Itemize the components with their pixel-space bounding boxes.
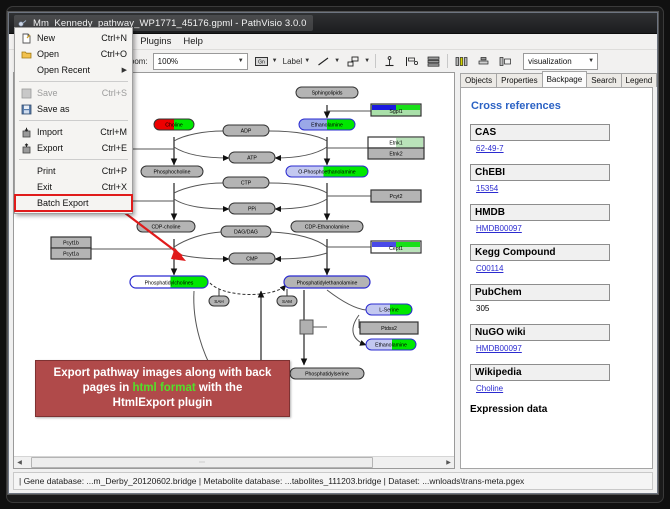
node-adp[interactable]: ADP: [223, 125, 269, 136]
toolbar-separator-1: [375, 54, 376, 68]
svg-text:O-Phosphoethanolamine: O-Phosphoethanolamine: [298, 170, 356, 176]
screenshot-frame: Mm_Kennedy_pathway_WP1771_45176.gpml - P…: [0, 0, 670, 509]
file-menu-exit-accel: Ctrl+X: [102, 182, 132, 192]
file-menu-export-label: Export: [37, 143, 102, 153]
import-icon: [15, 127, 37, 138]
save-icon: [15, 88, 37, 99]
node-dag[interactable]: DAG/DAG: [221, 226, 271, 237]
tab-properties[interactable]: Properties: [496, 73, 542, 87]
tab-legend[interactable]: Legend: [621, 73, 658, 87]
svg-text:Ethanolamine: Ethanolamine: [311, 123, 343, 129]
gene-product-tool-icon[interactable]: Gn: [253, 53, 270, 70]
xref-link-wikipedia[interactable]: Choline: [476, 384, 503, 393]
xref-link-nugo[interactable]: HMDB00097: [476, 344, 522, 353]
folder-open-icon: [15, 49, 37, 60]
file-menu-new-accel: Ctrl+N: [101, 33, 132, 43]
distribute-tool-icon[interactable]: [453, 53, 470, 70]
file-menu-save-as-label: Save as: [37, 104, 127, 114]
file-menu-exit[interactable]: Exit Ctrl+X: [15, 179, 132, 195]
xref-db-cas: CAS: [470, 124, 610, 141]
svg-text:Ptdss2: Ptdss2: [381, 326, 397, 332]
node-sam[interactable]: SAM: [277, 296, 297, 306]
svg-text:SAH: SAH: [214, 299, 223, 304]
file-menu-batch-export[interactable]: Batch Export: [15, 195, 132, 211]
node-o-phosphoethanolamine[interactable]: O-Phosphoethanolamine: [286, 166, 368, 177]
node-phosphatidylcholines[interactable]: Phosphatidylcholines: [130, 276, 208, 288]
tab-search[interactable]: Search: [586, 73, 621, 87]
file-menu-new-label: New: [37, 33, 101, 43]
visualization-combo[interactable]: visualization ▼: [523, 53, 598, 70]
backpage-content: Cross references CAS 62-49-7 ChEBI 15354…: [460, 87, 653, 469]
gene-pcyt1b[interactable]: Pcyt1b: [51, 237, 91, 248]
common-width-tool-icon[interactable]: [475, 53, 492, 70]
export-icon: [15, 143, 37, 154]
stack-tool-icon[interactable]: [425, 53, 442, 70]
svg-text:Sphingolipids: Sphingolipids: [312, 91, 343, 97]
file-menu-export-accel: Ctrl+E: [102, 143, 132, 153]
toolbar-separator-2: [447, 54, 448, 68]
save-as-icon: [15, 104, 37, 115]
annotation-text: Export pathway images along with back pa…: [54, 366, 272, 411]
file-menu-exit-label: Exit: [37, 182, 102, 192]
line-tool-chevron-icon[interactable]: ▼: [334, 58, 340, 64]
node-cdp-choline[interactable]: CDP-choline: [137, 221, 195, 232]
menu-help[interactable]: Help: [177, 35, 209, 49]
annotation-line3: HtmlExport plugin: [113, 397, 213, 409]
side-panel: Objects Properties Backpage Search Legen…: [457, 72, 653, 469]
file-menu-open-label: Open: [37, 49, 101, 59]
svg-text:ADP: ADP: [241, 129, 252, 135]
gene-sgpl1[interactable]: Sgpl1: [371, 104, 421, 116]
gene-ptdss2[interactable]: Ptdss2: [360, 322, 418, 334]
svg-text:Sgpl1: Sgpl1: [389, 109, 402, 115]
svg-text:L-Serine: L-Serine: [379, 308, 399, 314]
svg-text:Ethanolamine: Ethanolamine: [375, 343, 407, 349]
xref-value-hmdb[interactable]: HMDB00097: [476, 224, 643, 233]
svg-text:CTP: CTP: [241, 181, 252, 187]
node-ctp[interactable]: CTP: [223, 177, 269, 188]
scroll-thumb[interactable]: ⋯: [31, 457, 373, 468]
file-menu-print-label: Print: [37, 166, 102, 176]
file-menu-save-label: Save: [37, 88, 102, 98]
side-panel-tabs[interactable]: Objects Properties Backpage Search Legen…: [457, 72, 653, 87]
file-menu-open-recent[interactable]: Open Recent ▶: [15, 62, 132, 78]
file-menu-batch-export-label: Batch Export: [37, 198, 127, 208]
chevron-down-icon: ▼: [238, 58, 244, 64]
annotation-banner: Export pathway images along with back pa…: [35, 360, 290, 417]
xref-db-pubchem: PubChem: [470, 284, 610, 301]
svg-text:Pcyt2: Pcyt2: [390, 194, 403, 200]
file-menu-import-label: Import: [37, 127, 100, 137]
node-phosphocholine[interactable]: Phosphocholine: [141, 166, 203, 177]
file-menu-export[interactable]: Export Ctrl+E: [15, 140, 132, 156]
xref-db-wikipedia: Wikipedia: [470, 364, 610, 381]
xref-link-hmdb[interactable]: HMDB00097: [476, 224, 522, 233]
shape-tool-chevron-icon[interactable]: ▼: [364, 58, 370, 64]
svg-text:Etnk2: Etnk2: [389, 152, 402, 158]
file-menu-separator-1: [19, 81, 128, 82]
file-menu-dropdown[interactable]: New Ctrl+N Open Ctrl+O Open Recent ▶ Sav…: [14, 27, 133, 214]
annotation-line2-pre: pages in: [83, 382, 133, 394]
cross-references-title: Cross references: [471, 100, 643, 112]
gene-cept1[interactable]: Cept1: [371, 241, 421, 253]
visualization-value: visualization: [528, 57, 572, 66]
xref-link-kegg[interactable]: C00114: [476, 264, 503, 273]
svg-text:Pcyt1a: Pcyt1a: [63, 252, 79, 258]
file-menu-open-recent-label: Open Recent: [37, 65, 122, 75]
file-menu-new[interactable]: New Ctrl+N: [15, 30, 132, 46]
svg-text:Choline: Choline: [165, 123, 183, 129]
xref-db-nugo: NuGO wiki: [470, 324, 610, 341]
bring-front-tool-icon[interactable]: [497, 53, 514, 70]
node-phosphatidylserine[interactable]: Phosphatidylserine: [290, 368, 364, 379]
gene-tool-chevron-icon[interactable]: ▼: [272, 58, 278, 64]
node-atp[interactable]: ATP: [229, 152, 275, 163]
svg-text:ATP: ATP: [247, 156, 257, 162]
xref-value-chebi[interactable]: 15354: [476, 184, 643, 193]
file-menu-print[interactable]: Print Ctrl+P: [15, 163, 132, 179]
svg-text:Phosphatidylserine: Phosphatidylserine: [305, 372, 349, 378]
tab-backpage[interactable]: Backpage: [542, 71, 588, 87]
xref-value-pubchem: 305: [476, 304, 643, 313]
node-ethanolamine-lower[interactable]: Ethanolamine: [366, 339, 416, 350]
xref-value-kegg[interactable]: C00114: [476, 264, 643, 273]
pathvisio-window: Mm_Kennedy_pathway_WP1771_45176.gpml - P…: [8, 12, 658, 494]
file-menu-print-accel: Ctrl+P: [102, 166, 132, 176]
gene-pcyt1a[interactable]: Pcyt1a: [51, 248, 91, 259]
menu-plugins[interactable]: Plugins: [134, 35, 177, 49]
svg-text:Gn: Gn: [258, 59, 265, 65]
node-phosphatidylethanolamine[interactable]: Phosphatidylethanolamine: [284, 276, 370, 288]
label-tool-icon[interactable]: Label: [283, 57, 303, 66]
submenu-arrow-icon: ▶: [122, 66, 132, 74]
gene-etnk1[interactable]: Etnk1: [368, 137, 424, 148]
status-bar: | Gene database: ...m_Derby_20120602.bri…: [13, 472, 653, 490]
file-menu-save-accel: Ctrl+S: [102, 88, 132, 98]
file-menu-import-accel: Ctrl+M: [100, 127, 132, 137]
svg-text:CMP: CMP: [246, 257, 258, 263]
xref-value-cas[interactable]: 62-49-7: [476, 144, 643, 153]
svg-text:DAG/DAG: DAG/DAG: [234, 230, 258, 236]
xref-db-chebi: ChEBI: [470, 164, 610, 181]
label-tool-chevron-icon[interactable]: ▼: [304, 58, 310, 64]
align-left-tool-icon[interactable]: [403, 53, 420, 70]
file-menu-import[interactable]: Import Ctrl+M: [15, 124, 132, 140]
zoom-combo[interactable]: 100% ▼: [153, 53, 248, 70]
svg-text:Phosphocholine: Phosphocholine: [154, 170, 191, 176]
anchor-tool-icon[interactable]: [381, 53, 398, 70]
svg-text:Phosphatidylethanolamine: Phosphatidylethanolamine: [297, 280, 358, 286]
xref-value-wikipedia[interactable]: Choline: [476, 384, 643, 393]
xref-link-cas[interactable]: 62-49-7: [476, 144, 504, 153]
shape-tool-icon[interactable]: [345, 53, 362, 70]
annotation-highlight: html format: [132, 382, 195, 394]
zoom-value: 100%: [158, 57, 178, 66]
svg-text:CDP-choline: CDP-choline: [151, 225, 180, 231]
line-tool-icon[interactable]: [315, 53, 332, 70]
scroll-right-arrow-icon[interactable]: ▶: [443, 457, 454, 468]
expression-data-title: Expression data: [470, 404, 643, 415]
file-menu-save: Save Ctrl+S: [15, 85, 132, 101]
node-sphingolipids[interactable]: Sphingolipids: [296, 87, 358, 98]
gene-etnk2[interactable]: Etnk2: [368, 148, 424, 159]
status-text: | Gene database: ...m_Derby_20120602.bri…: [19, 476, 524, 486]
node-cdp-ethanolamine[interactable]: CDP-Ethanolamine: [291, 221, 363, 232]
canvas-horizontal-scrollbar[interactable]: ◀ ⋯ ▶: [14, 456, 454, 468]
file-menu-save-as[interactable]: Save as: [15, 101, 132, 117]
new-document-icon: [15, 33, 37, 44]
node-choline-top[interactable]: Choline: [154, 119, 194, 130]
file-menu-separator-3: [19, 159, 128, 160]
node-l-serine[interactable]: L-Serine: [366, 304, 412, 315]
annotation-line2-post: with the: [196, 382, 243, 394]
node-sah[interactable]: SAH: [209, 296, 229, 306]
file-menu-separator-2: [19, 120, 128, 121]
xref-value-nugo[interactable]: HMDB00097: [476, 344, 643, 353]
gene-pcyt2[interactable]: Pcyt2: [371, 190, 421, 202]
file-menu-open[interactable]: Open Ctrl+O: [15, 46, 132, 62]
svg-text:Pcyt1b: Pcyt1b: [63, 241, 79, 247]
svg-text:Cept1: Cept1: [389, 246, 403, 252]
node-ethanolamine[interactable]: Ethanolamine: [299, 119, 355, 130]
tab-objects[interactable]: Objects: [460, 73, 497, 87]
svg-text:Etnk1: Etnk1: [389, 141, 402, 147]
node-cmp[interactable]: CMP: [229, 253, 275, 264]
svg-text:Phosphatidylcholines: Phosphatidylcholines: [145, 280, 194, 286]
node-ppi[interactable]: PPi: [229, 203, 275, 214]
chevron-down-icon: ▼: [588, 58, 594, 64]
svg-text:PPi: PPi: [248, 207, 256, 213]
xref-db-kegg: Kegg Compound: [470, 244, 610, 261]
svg-text:SAM: SAM: [282, 299, 292, 304]
scroll-left-arrow-icon[interactable]: ◀: [14, 457, 25, 468]
file-menu-open-accel: Ctrl+O: [101, 49, 132, 59]
xref-db-hmdb: HMDB: [470, 204, 610, 221]
annotation-line1: Export pathway images along with back: [54, 367, 272, 379]
svg-text:CDP-Ethanolamine: CDP-Ethanolamine: [305, 225, 350, 231]
xref-link-chebi[interactable]: 15354: [476, 184, 498, 193]
